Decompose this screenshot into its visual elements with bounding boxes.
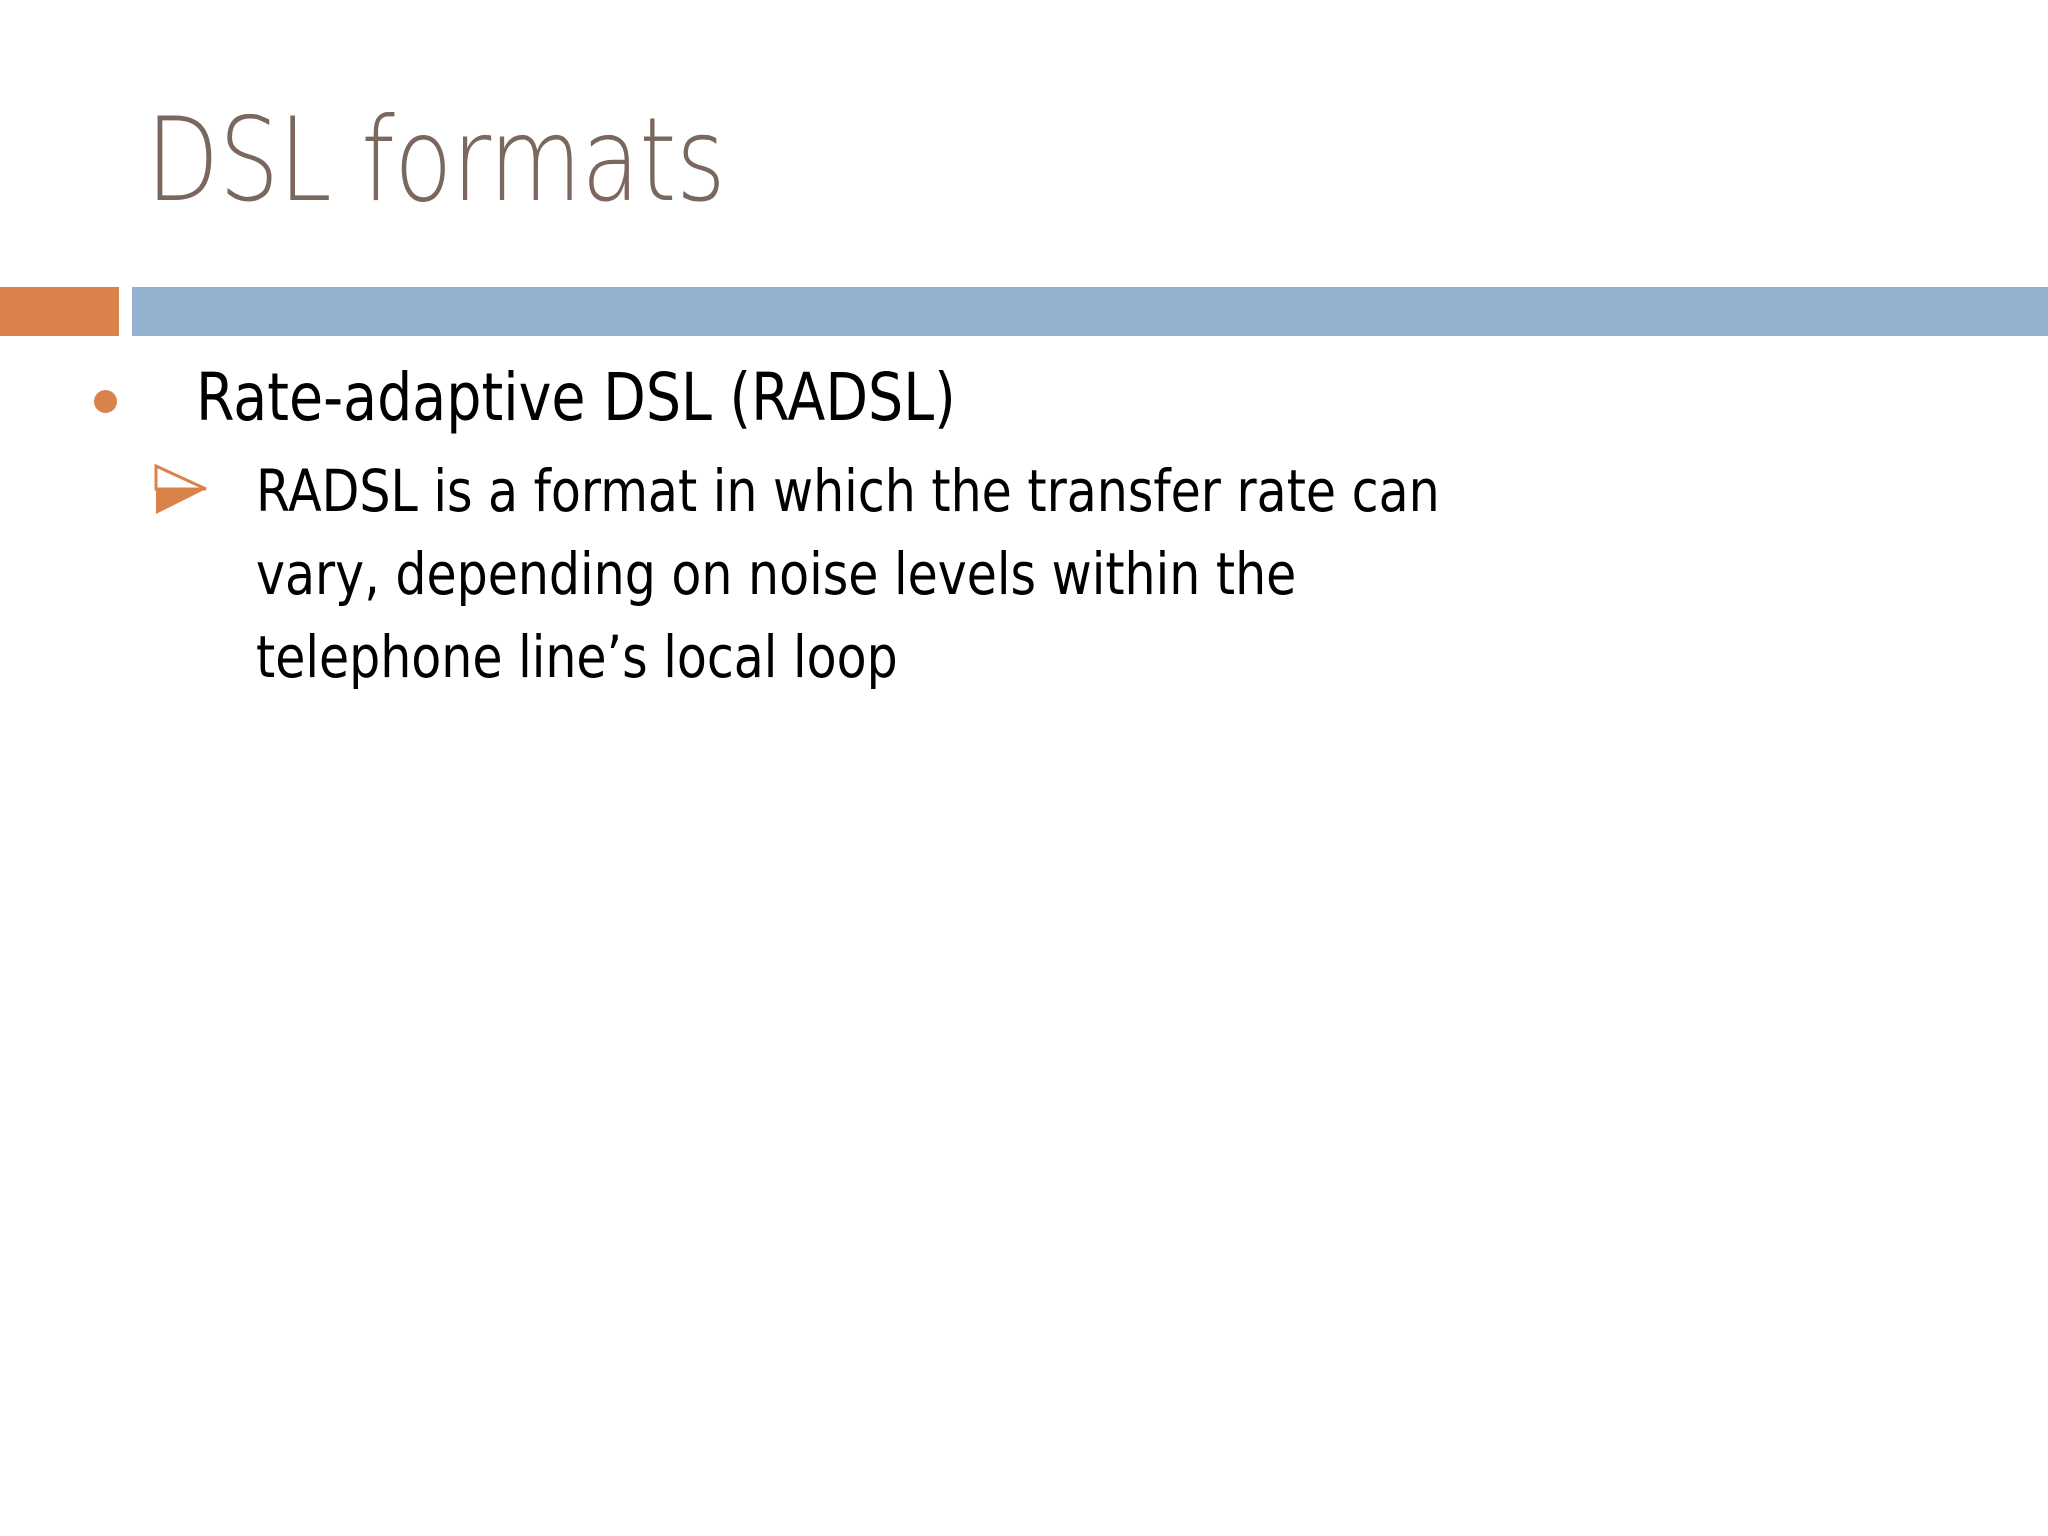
bullet-level2-text: RADSL is a format in which the transfer … [256, 450, 1956, 699]
slide-body: Rate-adaptive DSL (RADSL) RADSL is a for… [0, 352, 2048, 1536]
list-item: Rate-adaptive DSL (RADSL) [0, 352, 2048, 444]
accent-bar-blue [132, 287, 2048, 336]
slide-title: DSL formats [146, 86, 1622, 236]
bullet-level2-line: RADSL is a format in which the transfer … [256, 450, 1693, 533]
bullet-level2-line: vary, depending on noise levels within t… [256, 533, 1693, 616]
arrow-chevron-icon [152, 464, 210, 516]
bullet-dot-icon [94, 390, 117, 413]
bullet-level2-line: telephone line’s local loop [256, 616, 1693, 699]
presentation-slide: DSL formats Rate-adaptive DSL (RADSL) RA… [0, 0, 2048, 1536]
accent-bar-orange [0, 287, 119, 336]
bullet-level1-label: Rate-adaptive DSL (RADSL) [196, 352, 956, 444]
